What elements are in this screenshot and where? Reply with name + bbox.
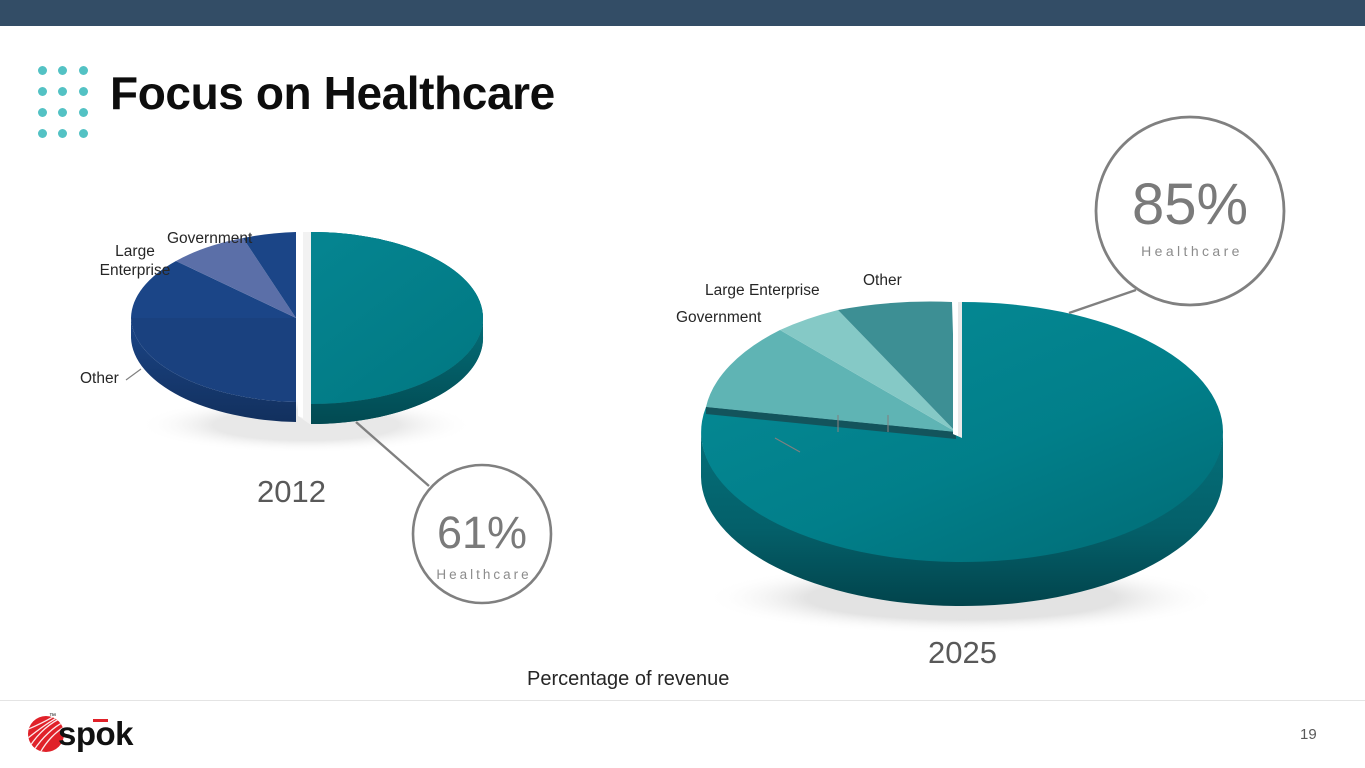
dot-icon	[32, 60, 53, 81]
dot-icon	[32, 81, 53, 102]
pie-2012-label-large-enterprise-line2: Enterprise	[92, 262, 178, 279]
callout-label-2025: Healthcare	[1141, 243, 1243, 259]
pie-2012-label-government: Government	[167, 230, 249, 247]
dot-icon	[53, 60, 74, 81]
callout-value-2012: 61%	[437, 507, 527, 558]
dot-icon	[73, 60, 94, 81]
pie-2025-year-label: 2025	[928, 635, 997, 671]
pie-2025-callout-leader	[1069, 290, 1136, 313]
pie-2012-explode-gap-hi	[298, 232, 303, 418]
slide-canvas: Focus on Healthcare	[0, 0, 1365, 768]
page-number: 19	[1300, 726, 1317, 743]
callout-label-2012: Healthcare	[436, 567, 531, 582]
charts-stage: 61% Healthcare	[0, 120, 1365, 700]
pie-2025-label-large-enterprise: Large Enterprise	[705, 282, 820, 299]
dot-icon	[53, 81, 74, 102]
pie-2012-slice-other-lower	[131, 318, 296, 402]
pie-charts-svg: 61% Healthcare	[0, 120, 1365, 700]
top-accent-bar	[0, 0, 1365, 26]
pie-2025-label-other: Other	[863, 272, 902, 289]
logo-trademark: ™	[49, 713, 56, 720]
callout-bubble-2012: 61% Healthcare	[413, 465, 551, 603]
logo-macron-accent	[93, 719, 108, 722]
pie-2012-leader-other	[126, 369, 141, 380]
pie-chart-2025	[701, 290, 1223, 634]
pie-2012-label-other: Other	[80, 370, 119, 387]
pie-2025-label-government: Government	[676, 309, 761, 326]
page-title: Focus on Healthcare	[110, 70, 555, 116]
pie-2025-explode-gap-hi	[953, 302, 958, 436]
chart-caption: Percentage of revenue	[527, 668, 729, 691]
pie-2012-year-label: 2012	[257, 474, 326, 510]
pie-chart-2012	[126, 232, 483, 486]
callout-value-2025: 85%	[1132, 172, 1248, 237]
dot-icon	[73, 81, 94, 102]
pie-2012-label-large-enterprise-line1: Large	[92, 243, 178, 260]
footer-divider	[0, 700, 1365, 701]
callout-bubble-2025: 85% Healthcare	[1096, 117, 1284, 305]
